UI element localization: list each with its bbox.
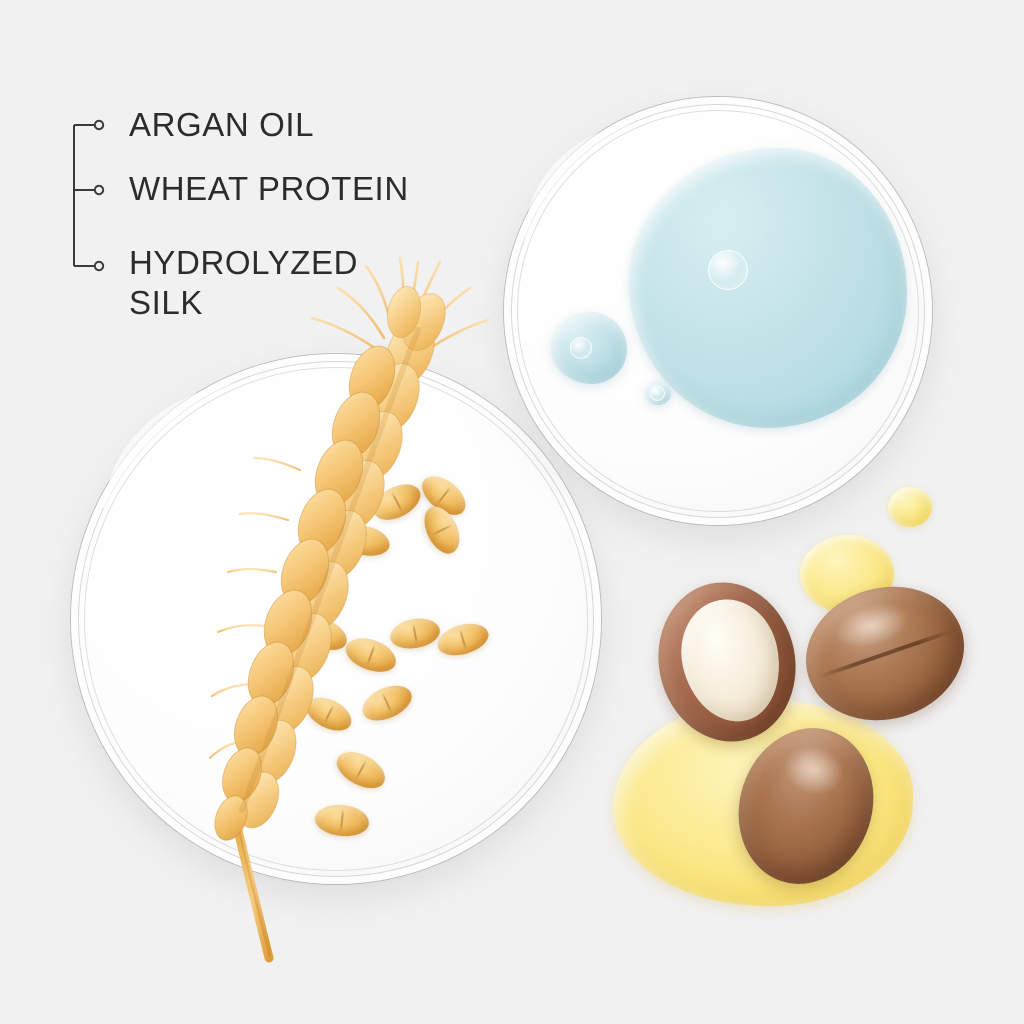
infographic-canvas: ARGAN OIL WHEAT PROTEIN HYDROLYZED SILK: [0, 0, 1024, 1024]
wheat-ear-icon: [0, 0, 1024, 1024]
